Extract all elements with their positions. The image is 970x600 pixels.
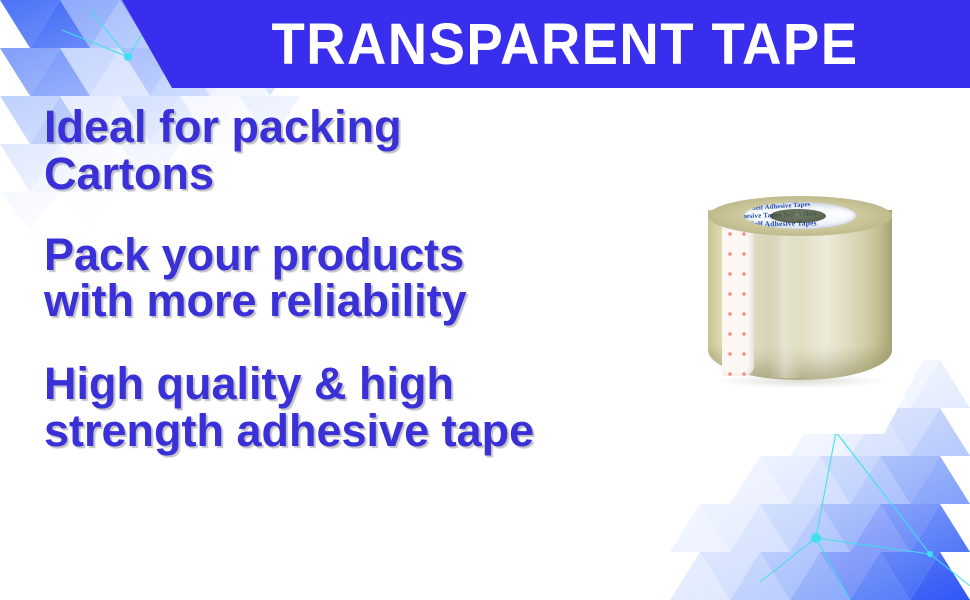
feature-copy-line: strength adhesive tape [44, 408, 664, 455]
roll-top-face: Self Adhesive Tapes hesive Tapes Self Ad… [708, 196, 892, 236]
feature-copy-line: Ideal for packing [44, 104, 664, 151]
roll-center-hole [770, 209, 826, 223]
roll-edge-pattern-strip [722, 226, 754, 376]
feature-copy-line: with more reliability [44, 278, 664, 325]
feature-copy-line: Pack your products [44, 232, 664, 279]
feature-copy-block: Ideal for packing Cartons [44, 104, 664, 198]
promo-banner: TRANSPARENT TAPE Ideal for packing Carto… [0, 0, 970, 600]
feature-copy-block: High quality & high strength adhesive ta… [44, 361, 664, 455]
feature-copy-list: Ideal for packing Cartons Pack your prod… [44, 104, 664, 455]
roll-edge-pattern-motif [722, 226, 754, 376]
network-node-dot [927, 551, 933, 557]
tape-roll-image: Self Adhesive Tapes hesive Tapes Self Ad… [708, 196, 892, 388]
feature-copy-line: High quality & high [44, 361, 664, 408]
product-showcase: Self Adhesive Tapes hesive Tapes Self Ad… [628, 118, 970, 438]
feature-copy-line: Cartons [44, 151, 664, 198]
network-node-dot [811, 533, 821, 543]
feature-copy-block: Pack your products with more reliability [44, 232, 664, 326]
page-title: TRANSPARENT TAPE [194, 6, 937, 84]
